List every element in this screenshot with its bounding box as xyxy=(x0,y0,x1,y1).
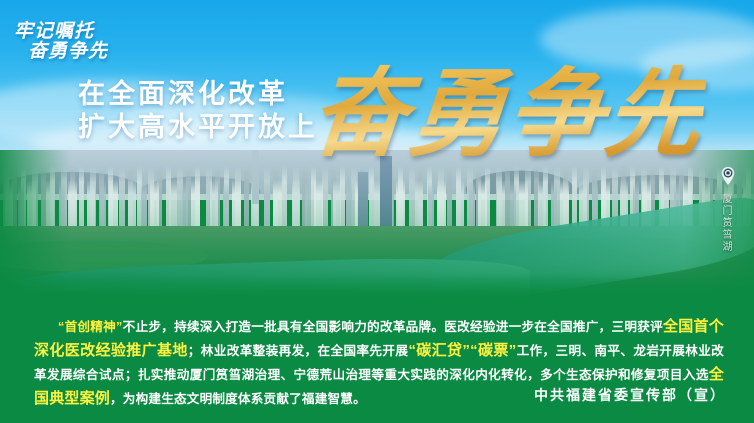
panel-top-fade xyxy=(0,274,754,298)
body-text-run: ，为构建生态文明制度体系贡献了福建智慧。 xyxy=(110,392,366,406)
logo-line-1: 牢记嘱托 xyxy=(14,22,108,42)
green-text-panel: “首创精神”不止步，持续深入打造一批具有全国影响力的改革品牌。医改经验进一步在全… xyxy=(0,296,754,423)
subtitle-block: 在全面深化改革 扩大高水平开放上 xyxy=(78,78,318,144)
campaign-logo: 牢记嘱托 奋勇争先 xyxy=(14,22,108,62)
body-text-run: 不止步，持续深入打造一批具有全国影响力的改革品牌。医改经验进一步在全国推广，三明… xyxy=(123,320,663,334)
location-label: 厦门筼筜湖 xyxy=(718,193,733,253)
location-pin-icon xyxy=(718,166,738,186)
subtitle-line-1: 在全面深化改革 xyxy=(78,78,318,111)
body-text-highlight: 首创精神 xyxy=(65,320,117,334)
body-text-highlight: “碳汇贷” xyxy=(408,342,470,359)
publisher-signature: 中共福建省委宣传部（宣） xyxy=(534,385,726,405)
gold-calligraphy-title: 奋勇争先 xyxy=(306,36,710,175)
location-mark: 厦门筼筜湖 xyxy=(718,166,738,253)
logo-line-2: 奋勇争先 xyxy=(28,42,108,62)
poster-root: 牢记嘱托 奋勇争先 在全面深化改革 扩大高水平开放上 奋勇争先 厦门筼筜湖 “首… xyxy=(0,0,754,423)
body-text-run: ；林业改革整装再发，在全国率先开展 xyxy=(188,344,409,358)
body-text-highlight: “碳票” xyxy=(470,342,516,359)
subtitle-line-2: 扩大高水平开放上 xyxy=(78,111,318,144)
